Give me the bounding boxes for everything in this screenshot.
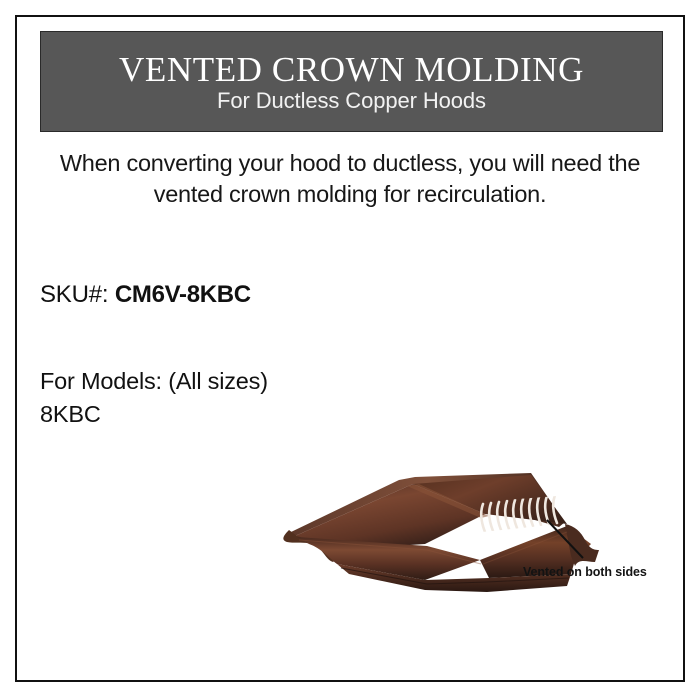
product-info-page: VENTED CROWN MOLDING For Ductless Copper…	[0, 0, 700, 700]
header-banner: VENTED CROWN MOLDING For Ductless Copper…	[40, 31, 663, 132]
models-block: For Models: (All sizes) 8KBC	[40, 365, 268, 431]
page-title: VENTED CROWN MOLDING	[119, 52, 584, 87]
sku-label: SKU#:	[40, 281, 108, 308]
sku-value: CM6V-8KBC	[115, 281, 251, 308]
page-subtitle: For Ductless Copper Hoods	[217, 90, 486, 112]
models-value: 8KBC	[40, 398, 268, 431]
models-label: For Models: (All sizes)	[40, 365, 268, 398]
intro-paragraph: When converting your hood to ductless, y…	[45, 148, 655, 210]
sku-line: SKU#: CM6V-8KBC	[40, 280, 251, 310]
product-image: Vented on both sides	[275, 440, 675, 600]
vent-caption: Vented on both sides	[523, 565, 647, 579]
